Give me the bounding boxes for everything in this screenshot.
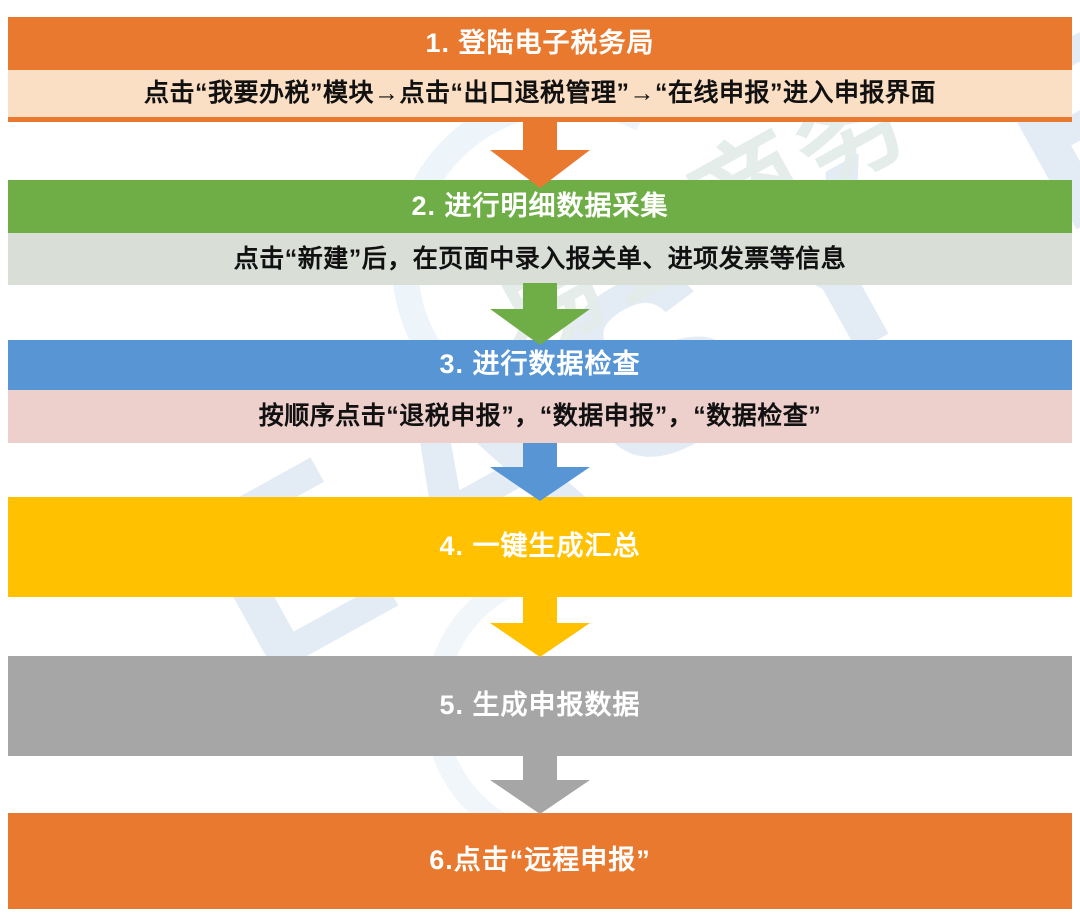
arrow-step-1-to-2: [490, 120, 590, 188]
flow-step-4[interactable]: 4. 一键生成汇总: [8, 497, 1072, 597]
flow-step-3-title: 3. 进行数据检查: [8, 340, 1072, 390]
flow-step-1-description: 点击“我要办税”模块→点击“出口退税管理”→“在线申报”进入申报界面: [8, 70, 1072, 117]
flow-step-3[interactable]: 3. 进行数据检查 按顺序点击“退税申报”，“数据申报”，“数据检查”: [8, 340, 1072, 443]
flow-step-6-title: 6.点击“远程申报”: [8, 813, 1072, 909]
arrow-step-2-to-3: [490, 283, 590, 345]
flow-step-1-title: 1. 登陆电子税务局: [8, 17, 1072, 70]
flowchart-root: EASY BIZ 易企商务 1. 登陆电子税务局 点击“我要办税”模块→点击“出…: [0, 0, 1080, 919]
arrow-step-3-to-4: [490, 443, 590, 501]
flow-step-3-description: 按顺序点击“退税申报”，“数据申报”，“数据检查”: [8, 390, 1072, 443]
flow-steps-container: 1. 登陆电子税务局 点击“我要办税”模块→点击“出口退税管理”→“在线申报”进…: [0, 0, 1080, 919]
flow-step-6[interactable]: 6.点击“远程申报”: [8, 813, 1072, 909]
flow-step-5-title: 5. 生成申报数据: [8, 656, 1072, 756]
flow-step-2[interactable]: 2. 进行明细数据采集 点击“新建”后，在页面中录入报关单、进项发票等信息: [8, 180, 1072, 285]
flow-step-5[interactable]: 5. 生成申报数据: [8, 656, 1072, 756]
arrow-step-5-to-6: [490, 756, 590, 814]
flow-step-4-title: 4. 一键生成汇总: [8, 497, 1072, 597]
flow-step-2-description: 点击“新建”后，在页面中录入报关单、进项发票等信息: [8, 233, 1072, 285]
flow-step-1[interactable]: 1. 登陆电子税务局 点击“我要办税”模块→点击“出口退税管理”→“在线申报”进…: [8, 17, 1072, 122]
arrow-step-4-to-5: [490, 597, 590, 657]
